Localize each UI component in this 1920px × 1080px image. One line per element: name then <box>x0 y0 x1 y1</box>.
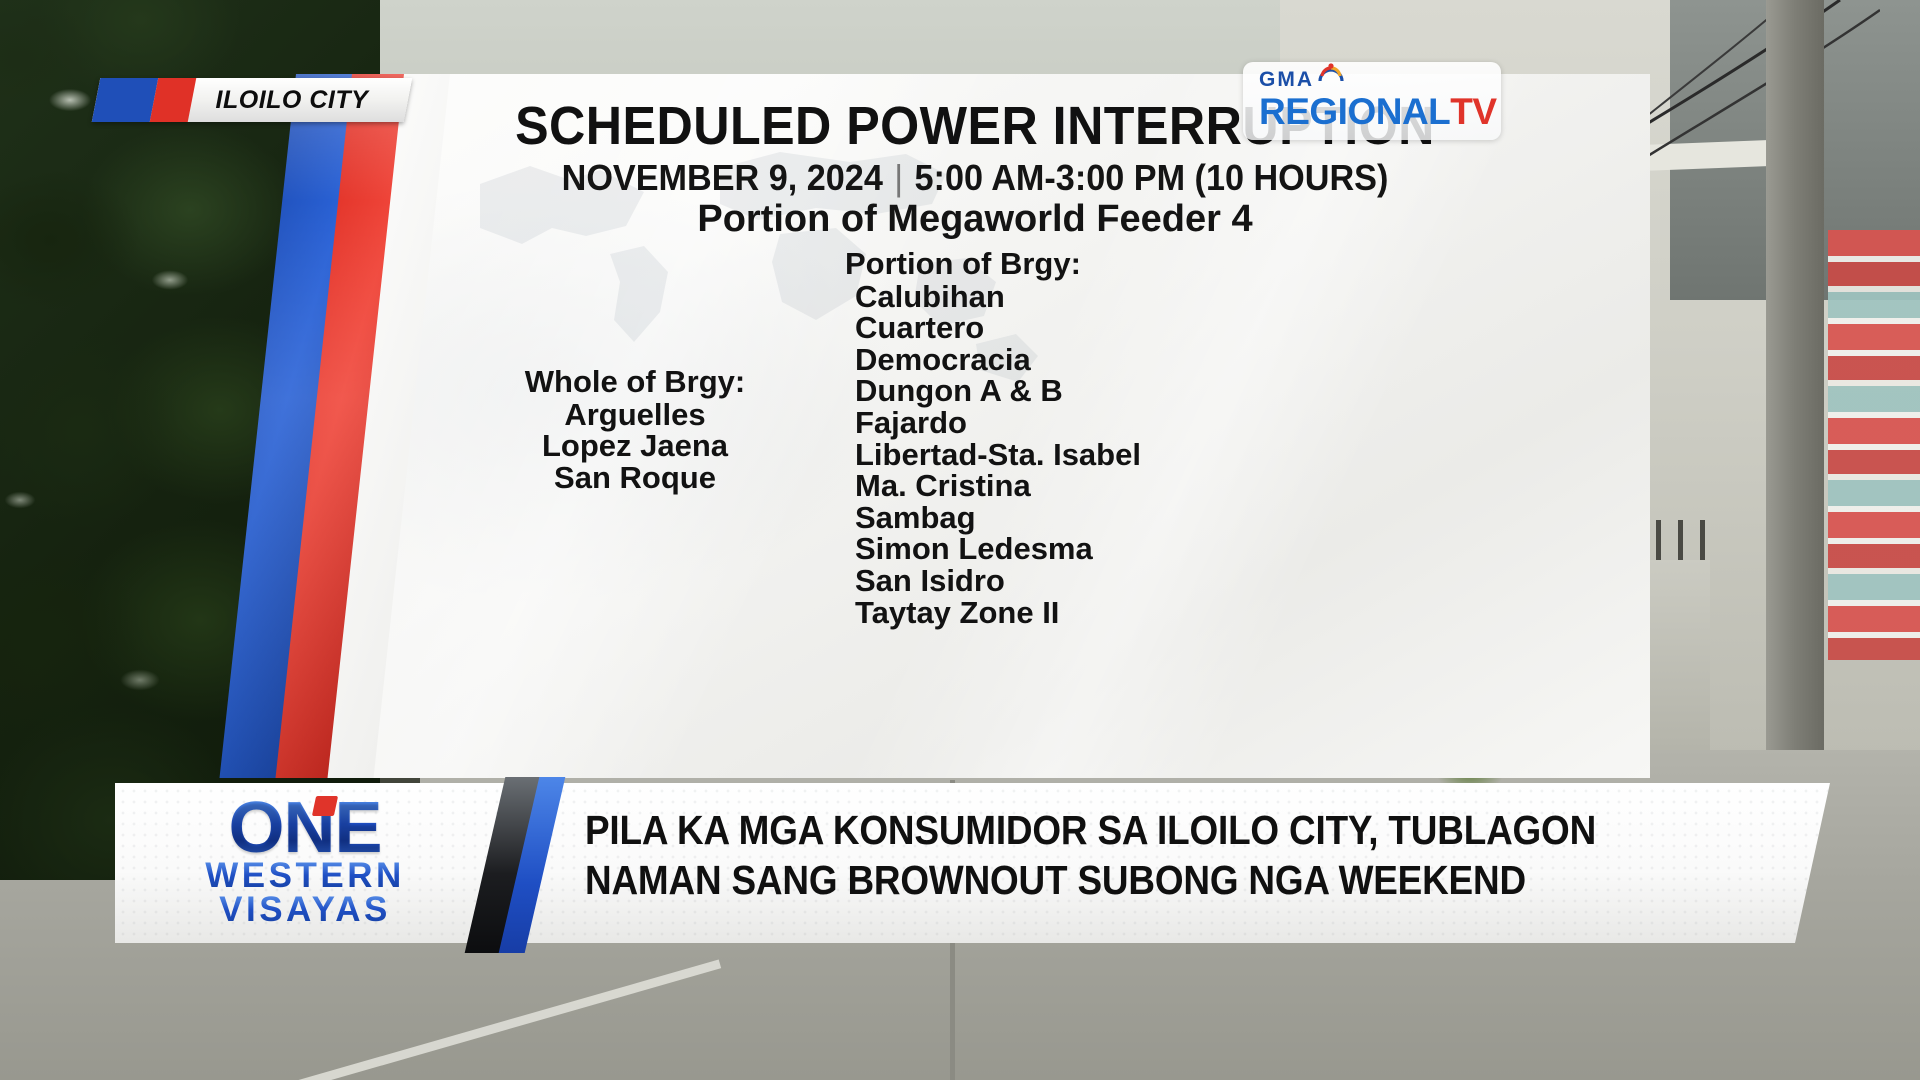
tv-word: TV <box>1450 93 1496 130</box>
gma-arc-icon <box>1316 63 1346 85</box>
logo-red-accent-icon <box>311 796 337 816</box>
program-logo-line1: ONE <box>228 798 381 858</box>
world-map-watermark <box>420 114 1120 434</box>
location-label: ILOILO CITY <box>192 86 408 115</box>
headline-line-2: NAMAN SANG BROWNOUT SUBONG NGA WEEKEND <box>585 855 1647 905</box>
broadcast-frame: SCHEDULED POWER INTERRUPTION NOVEMBER 9,… <box>0 0 1920 1080</box>
location-tag: ILOILO CITY <box>92 78 413 122</box>
regional-tv-wordmark: REGIONAL TV <box>1259 93 1501 130</box>
poster-stack <box>1828 230 1920 660</box>
program-logo: ONE WESTERN VISAYAS <box>155 789 455 937</box>
locator-chip-blue <box>92 78 159 122</box>
advisory-panel <box>300 74 1650 778</box>
program-logo-one-text: ONE <box>228 788 381 868</box>
headline-line-1: PILA KA MGA KONSUMIDOR SA ILOILO CITY, T… <box>585 805 1647 855</box>
panel-gloss <box>300 74 1650 778</box>
logo-divider <box>467 783 563 943</box>
network-logo: GMA REGIONAL TV <box>1243 62 1501 140</box>
program-logo-line3: VISAYAS <box>219 893 391 927</box>
regional-word: REGIONAL <box>1259 93 1450 130</box>
lower-third: ONE WESTERN VISAYAS PILA KA MGA KONSUMID… <box>115 783 1830 943</box>
gma-wordmark: GMA <box>1259 69 1314 90</box>
utility-pole <box>1766 0 1824 780</box>
locator-chip-red <box>150 78 197 122</box>
headline-block: PILA KA MGA KONSUMIDOR SA ILOILO CITY, T… <box>585 805 1765 905</box>
